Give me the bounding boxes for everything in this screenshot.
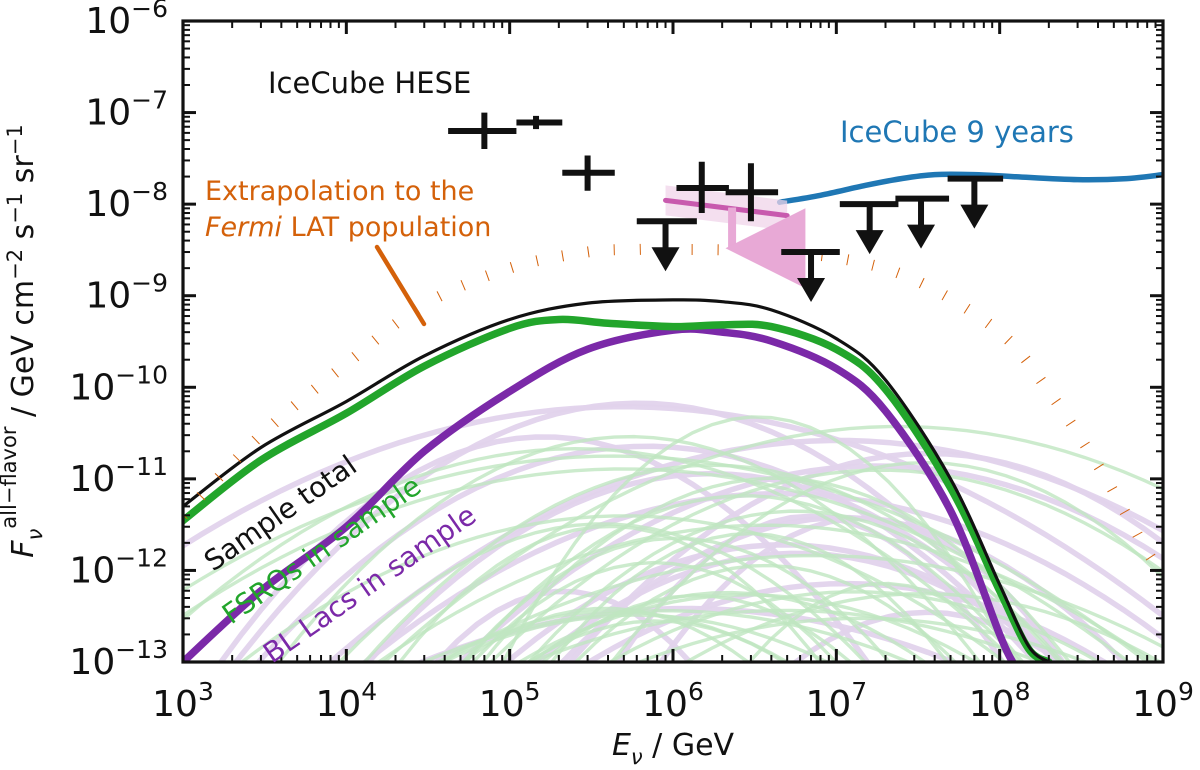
y-axis-units-a: / GeV cm <box>6 280 41 427</box>
x-axis-subscript: ν <box>631 745 643 769</box>
fermi-italic: Fermi <box>205 212 283 243</box>
y-axis-units-c: sr <box>6 155 41 193</box>
x-axis-unit: / GeV <box>643 728 735 763</box>
svg-text:Eν / GeV: Eν / GeV <box>612 728 735 769</box>
y-axis-subscript: ν <box>23 528 47 540</box>
y-axis-exp2: −1 <box>3 193 27 224</box>
annotation-icecube-hese: IceCube HESE <box>268 66 471 100</box>
annotation-icecube-9-years: IceCube 9 years <box>840 115 1074 149</box>
annotation-extrapolation-line1: Extrapolation to the <box>205 176 474 207</box>
y-axis-exp1: −2 <box>3 249 27 280</box>
figure-canvas: 103104105106107108109 10−610−710−810−910… <box>0 0 1200 770</box>
annotation-extrapolation-line2: Fermi LAT population <box>205 212 491 243</box>
y-axis-symbol: F <box>6 540 41 558</box>
y-axis-superscript: all−flavor <box>0 426 21 529</box>
y-axis-exp3: −1 <box>3 124 27 155</box>
x-axis-symbol: E <box>612 728 631 763</box>
x-axis-title: Eν / GeV <box>612 728 735 769</box>
y-axis-units-b: s <box>6 224 41 249</box>
lat-population: LAT population <box>282 212 491 243</box>
neutrino-flux-chart: 103104105106107108109 10−610−710−810−910… <box>0 0 1200 770</box>
